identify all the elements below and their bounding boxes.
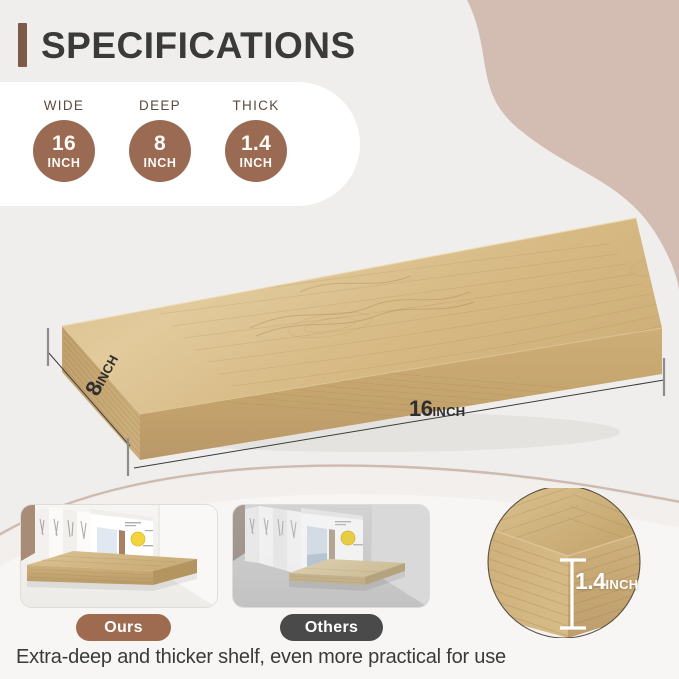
others-scene-graphic [233,505,430,608]
spec-badge-wide: 16 INCH [33,120,95,182]
comparison-panel-ours [20,504,218,608]
width-dimension-value: 16 [409,396,432,422]
caption-text: Extra-deep and thicker shelf, even more … [16,646,656,669]
spec-label-wide: WIDE [44,98,84,113]
thickness-unit: INCH [605,577,638,592]
ours-scene-graphic [21,505,218,608]
thickness-closeup [456,488,679,638]
infographic-canvas: SPECIFICATIONS WIDE 16 INCH DEEP 8 INCH … [0,0,679,679]
spec-value-deep: 8 [154,133,166,154]
shelf-3d-graphic [0,200,679,490]
spec-column-thick: THICK 1.4 INCH [224,82,288,182]
spec-column-deep: DEEP 8 INCH [128,82,192,182]
spec-unit-thick: INCH [240,157,273,170]
shelf-illustration: 16 INCH 8 INCH [0,200,679,490]
spec-badge-thick: 1.4 INCH [225,120,287,182]
spec-badge-deep: 8 INCH [129,120,191,182]
spec-value-wide: 16 [52,133,76,154]
width-dimension-unit: INCH [432,404,465,419]
thickness-value: 1.4 [575,568,605,595]
specifications-card: WIDE 16 INCH DEEP 8 INCH THICK 1.4 INCH [0,82,360,206]
accent-bar-icon [18,23,27,67]
thickness-closeup-graphic [456,488,679,638]
page-title: SPECIFICATIONS [41,27,356,64]
page-header: SPECIFICATIONS [18,22,356,68]
badge-others-label: Others [305,619,358,637]
spec-column-wide: WIDE 16 INCH [32,82,96,182]
spec-label-thick: THICK [233,98,280,113]
badge-ours-label: Ours [104,619,143,637]
spec-label-deep: DEEP [139,98,181,113]
badge-others: Others [280,614,383,641]
thickness-dimension-label: 1.4 INCH [575,568,638,595]
spec-unit-wide: INCH [48,157,81,170]
badge-ours: Ours [76,614,171,641]
specifications-row: WIDE 16 INCH DEEP 8 INCH THICK 1.4 INCH [0,82,360,206]
comparison-panel-others [232,504,430,608]
width-dimension-label: 16 INCH [409,396,465,422]
spec-value-thick: 1.4 [241,133,271,154]
spec-unit-deep: INCH [144,157,177,170]
